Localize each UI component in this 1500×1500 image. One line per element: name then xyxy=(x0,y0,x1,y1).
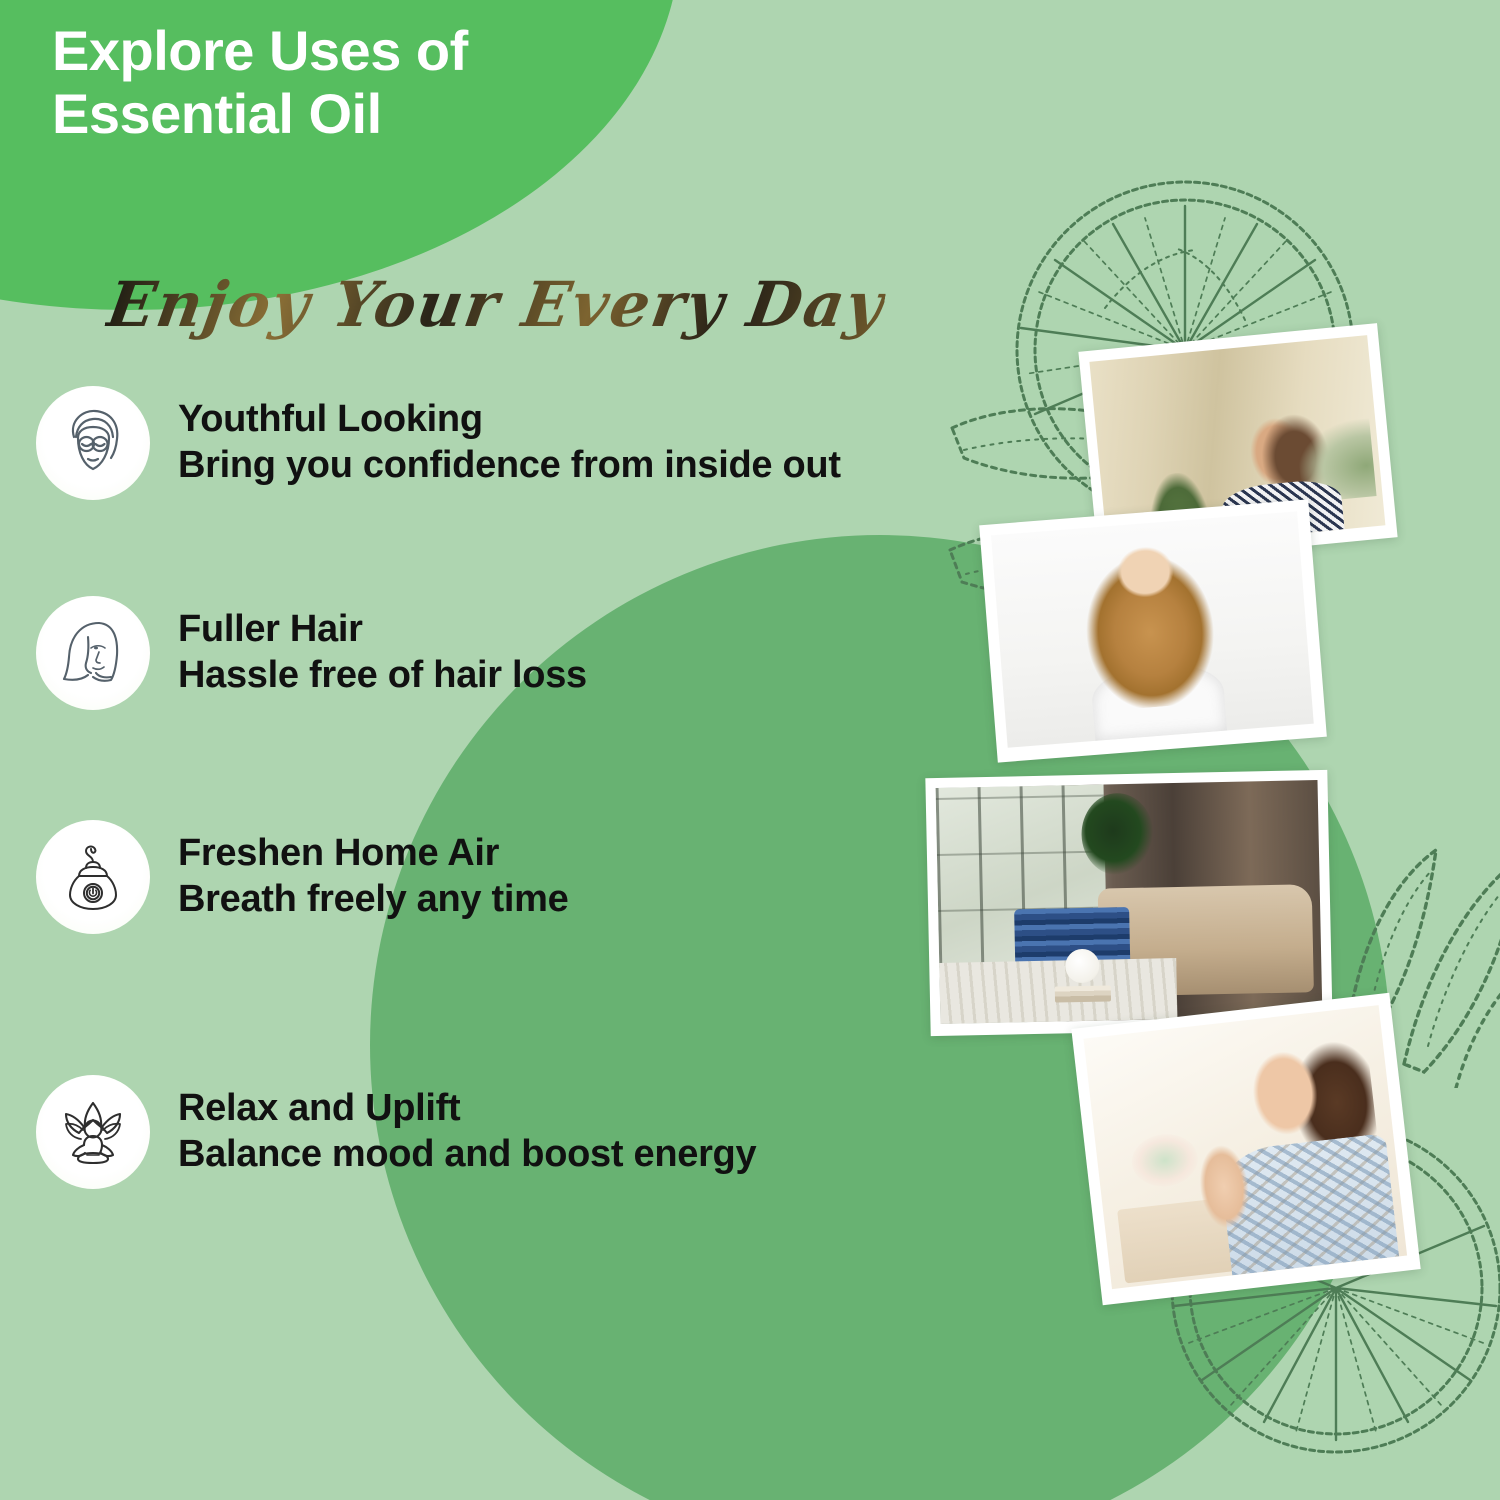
photo-detail-hair xyxy=(1067,524,1231,713)
tagline: Enjoy Your Every Day xyxy=(102,268,890,341)
photo-detail-plant xyxy=(1081,793,1155,876)
benefit-subtitle: Breath freely any time xyxy=(178,877,568,923)
photo-detail-hands xyxy=(1181,1128,1267,1246)
infographic-canvas: Explore Uses of Essential Oil Enjoy Your… xyxy=(0,0,1500,1500)
benefit-text-fuller-hair: Fuller Hair Hassle free of hair loss xyxy=(178,607,587,698)
photo-image xyxy=(936,780,1323,1024)
benefit-title: Relax and Uplift xyxy=(178,1086,756,1132)
photo-detail-books xyxy=(1054,986,1110,1003)
benefit-subtitle: Hassle free of hair loss xyxy=(178,653,587,699)
benefit-text-youthful-looking: Youthful Looking Bring you confidence fr… xyxy=(178,397,841,488)
page-title: Explore Uses of Essential Oil xyxy=(52,20,672,145)
benefit-item-freshen-home-air: Freshen Home Air Breath freely any time xyxy=(36,820,568,934)
benefit-text-relax-and-uplift: Relax and Uplift Balance mood and boost … xyxy=(178,1086,756,1177)
benefit-item-relax-and-uplift: Relax and Uplift Balance mood and boost … xyxy=(36,1075,756,1189)
benefit-subtitle: Balance mood and boost energy xyxy=(178,1132,756,1178)
lotus-meditation-icon xyxy=(36,1075,150,1189)
benefit-title: Youthful Looking xyxy=(178,397,841,443)
living-room-diffuser-photo xyxy=(925,770,1332,1036)
wavy-blonde-hair-woman-photo xyxy=(979,499,1327,762)
photo-image xyxy=(991,511,1314,747)
long-hair-woman-icon xyxy=(36,596,150,710)
face-mask-icon xyxy=(36,386,150,500)
aroma-diffuser-icon xyxy=(36,820,150,934)
benefit-title: Fuller Hair xyxy=(178,607,587,653)
photo-image xyxy=(1083,1005,1407,1289)
woman-spraying-perfume-photo xyxy=(1071,993,1420,1305)
benefit-item-youthful-looking: Youthful Looking Bring you confidence fr… xyxy=(36,386,841,500)
benefit-title: Freshen Home Air xyxy=(178,831,568,877)
benefit-text-freshen-home-air: Freshen Home Air Breath freely any time xyxy=(178,831,568,922)
benefit-subtitle: Bring you confidence from inside out xyxy=(178,443,841,489)
benefit-item-fuller-hair: Fuller Hair Hassle free of hair loss xyxy=(36,596,587,710)
